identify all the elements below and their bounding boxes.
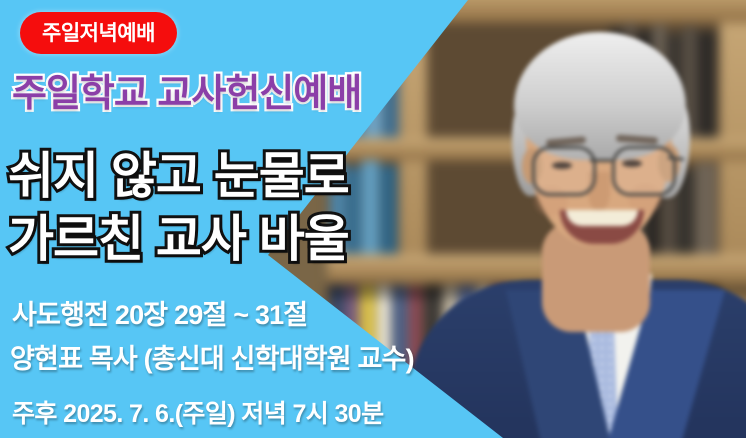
scripture-reference: 사도행전 20장 29절 ~ 31절 (12, 293, 307, 332)
hair (514, 32, 686, 160)
worship-service-banner: 주일저녁예배 주일학교 교사헌신예배 쉬지 않고 눈물로 가르친 교사 바울 사… (0, 0, 746, 438)
glasses-bridge (590, 159, 612, 162)
teeth (566, 210, 638, 226)
glasses-lens-left (532, 146, 596, 196)
glasses-lens-right (612, 146, 676, 196)
service-type-badge: 주일저녁예배 (20, 12, 177, 54)
book (361, 161, 379, 254)
sermon-title-line-2: 가르친 교사 바울 (8, 199, 349, 271)
eyeglasses (530, 146, 672, 192)
book (380, 165, 397, 254)
event-subtitle: 주일학교 교사헌신예배 (12, 62, 361, 117)
speaker-portrait (430, 22, 746, 438)
sermon-title-line-1: 쉬지 않고 눈물로 (8, 136, 349, 208)
speaker-name-and-title: 양현표 목사 (총신대 신학대학원 교수) (10, 337, 414, 376)
service-datetime: 주후 2025. 7. 6.(주일) 저녁 7시 30분 (12, 394, 384, 430)
